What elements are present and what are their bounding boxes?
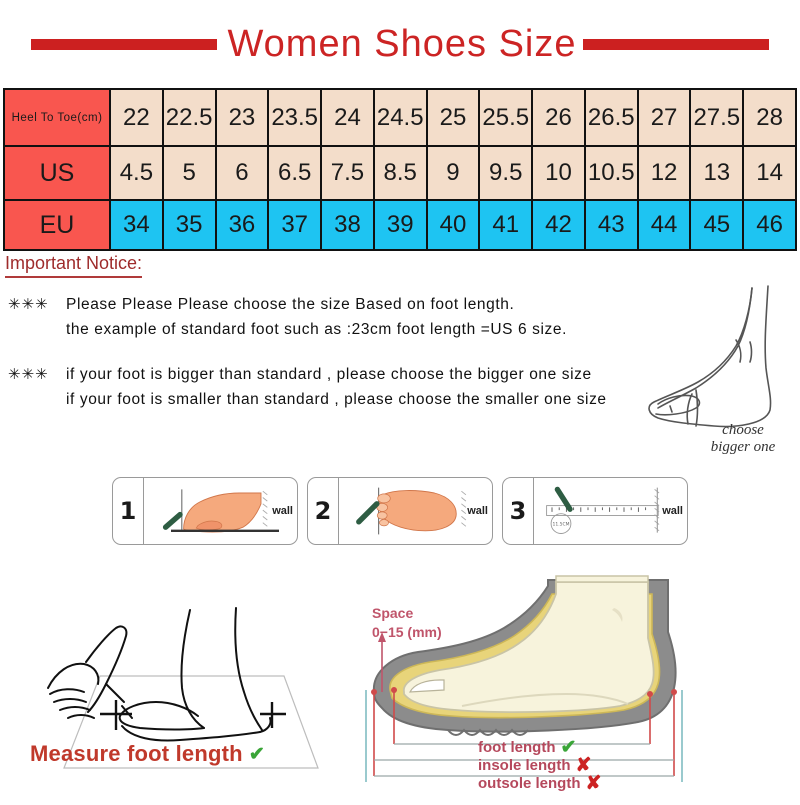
notice-body: ✳✳✳ Please Please Please choose the size… xyxy=(8,292,688,412)
cell-eu-5: 39 xyxy=(374,200,427,250)
cell-heel-11: 27.5 xyxy=(690,89,743,146)
title-bar-left xyxy=(31,39,217,50)
cell-heel-2: 23 xyxy=(216,89,269,146)
cell-heel-8: 26 xyxy=(532,89,585,146)
space-annotation-line2: 0−15 (mm) xyxy=(372,623,442,642)
legend-row-insole-length: insole length ✘ xyxy=(478,756,778,774)
cell-us-7: 9.5 xyxy=(479,146,532,200)
cross-icon: ✘ xyxy=(576,756,592,775)
cell-eu-3: 37 xyxy=(268,200,321,250)
page-title-row: Women Shoes Size xyxy=(0,14,800,74)
cell-eu-6: 40 xyxy=(427,200,480,250)
page-title: Women Shoes Size xyxy=(227,25,576,63)
foot-sketch-caption-line1: choose xyxy=(688,422,798,439)
notice-p1-line1-text: Please Please Please choose the size Bas… xyxy=(66,292,514,317)
space-annotation: Space 0−15 (mm) xyxy=(372,604,442,642)
notice-bullet-marker-2: ✳✳✳ xyxy=(8,362,66,387)
size-conversion-table: Heel To Toe(cm) 22 22.5 23 23.5 24 24.5 … xyxy=(3,88,797,251)
space-annotation-line1: Space xyxy=(372,604,442,623)
cell-heel-4: 24 xyxy=(321,89,374,146)
cell-heel-12: 28 xyxy=(743,89,796,146)
step-number-1: 1 xyxy=(113,478,144,544)
notice-p2-line2: if your foot is smaller than standard , … xyxy=(8,387,688,412)
cell-us-6: 9 xyxy=(427,146,480,200)
cell-us-3: 6.5 xyxy=(268,146,321,200)
cell-us-2: 6 xyxy=(216,146,269,200)
cell-eu-11: 45 xyxy=(690,200,743,250)
notice-spacer xyxy=(8,342,688,362)
measurement-steps: 1 wall 2 xyxy=(112,477,688,545)
check-icon: ✔ xyxy=(560,738,576,757)
cell-us-4: 7.5 xyxy=(321,146,374,200)
cell-us-12: 14 xyxy=(743,146,796,200)
cell-eu-2: 36 xyxy=(216,200,269,250)
cell-us-9: 10.5 xyxy=(585,146,638,200)
notice-p2-line2-text: if your foot is smaller than standard , … xyxy=(66,387,607,412)
foot-sketch-caption: choose bigger one xyxy=(688,422,798,456)
row-header-heel-to-toe: Heel To Toe(cm) xyxy=(4,89,110,146)
check-icon: ✔ xyxy=(249,745,265,764)
step-number-2: 2 xyxy=(308,478,339,544)
table-row-eu: EU 34 35 36 37 38 39 40 41 42 43 44 45 4… xyxy=(4,200,796,250)
cell-heel-10: 27 xyxy=(638,89,691,146)
cell-heel-7: 25.5 xyxy=(479,89,532,146)
notice-p1-line2-text: the example of standard foot such as :23… xyxy=(66,317,567,342)
foot-sketch-caption-line2: bigger one xyxy=(688,439,798,456)
notice-p2-line1: ✳✳✳ if your foot is bigger than standard… xyxy=(8,362,688,387)
cell-heel-5: 24.5 xyxy=(374,89,427,146)
legend-label-foot-length: foot length xyxy=(478,739,555,756)
ruler-measure-badge: 11.5CM xyxy=(552,521,569,527)
step-2-illustration: wall xyxy=(339,478,492,544)
cross-icon: ✘ xyxy=(586,774,602,793)
cell-us-10: 12 xyxy=(638,146,691,200)
cell-heel-3: 23.5 xyxy=(268,89,321,146)
cell-us-5: 8.5 xyxy=(374,146,427,200)
step-1-wall-label: wall xyxy=(272,505,293,517)
cell-eu-10: 44 xyxy=(638,200,691,250)
cell-us-1: 5 xyxy=(163,146,216,200)
notice-p1-line2: the example of standard foot such as :23… xyxy=(8,317,688,342)
cell-heel-6: 25 xyxy=(427,89,480,146)
cell-eu-9: 43 xyxy=(585,200,638,250)
measure-foot-caption: Measure foot length xyxy=(30,741,243,767)
cell-eu-1: 35 xyxy=(163,200,216,250)
step-2-wall-label: wall xyxy=(467,505,488,517)
cell-eu-8: 42 xyxy=(532,200,585,250)
table-row-us: US 4.5 5 6 6.5 7.5 8.5 9 9.5 10 10.5 12 … xyxy=(4,146,796,200)
title-bar-right xyxy=(583,39,769,50)
length-legend: foot length ✔ insole length ✘ outsole le… xyxy=(478,738,778,792)
cell-heel-9: 26.5 xyxy=(585,89,638,146)
cell-eu-4: 38 xyxy=(321,200,374,250)
step-3-wall-label: wall xyxy=(662,505,683,517)
row-header-us: US xyxy=(4,146,110,200)
step-3-illustration: 11.5CM wall xyxy=(534,478,687,544)
legend-row-foot-length: foot length ✔ xyxy=(478,738,778,756)
row-header-eu: EU xyxy=(4,200,110,250)
step-number-3: 3 xyxy=(503,478,534,544)
important-notice-heading: Important Notice: xyxy=(5,254,142,278)
cell-eu-0: 34 xyxy=(110,200,163,250)
measure-foot-caption-row: Measure foot length ✔ xyxy=(30,741,330,767)
foot-profile-sketch-icon xyxy=(640,268,800,448)
cell-heel-0: 22 xyxy=(110,89,163,146)
legend-row-outsole-length: outsole length ✘ xyxy=(478,774,778,792)
cell-eu-7: 41 xyxy=(479,200,532,250)
notice-bullet-marker-1: ✳✳✳ xyxy=(8,292,66,317)
cell-us-8: 10 xyxy=(532,146,585,200)
notice-p2-line1-text: if your foot is bigger than standard , p… xyxy=(66,362,592,387)
cell-us-0: 4.5 xyxy=(110,146,163,200)
cell-heel-1: 22.5 xyxy=(163,89,216,146)
legend-label-outsole-length: outsole length xyxy=(478,775,581,792)
step-panel-2: 2 wall xyxy=(307,477,493,545)
cell-us-11: 13 xyxy=(690,146,743,200)
cell-eu-12: 46 xyxy=(743,200,796,250)
size-table-body: Heel To Toe(cm) 22 22.5 23 23.5 24 24.5 … xyxy=(4,89,796,250)
step-panel-1: 1 wall xyxy=(112,477,298,545)
step-1-illustration: wall xyxy=(144,478,297,544)
notice-p1-line1: ✳✳✳ Please Please Please choose the size… xyxy=(8,292,688,317)
table-row-heel-to-toe: Heel To Toe(cm) 22 22.5 23 23.5 24 24.5 … xyxy=(4,89,796,146)
legend-label-insole-length: insole length xyxy=(478,757,571,774)
step-panel-3: 3 11.5CM xyxy=(502,477,688,545)
